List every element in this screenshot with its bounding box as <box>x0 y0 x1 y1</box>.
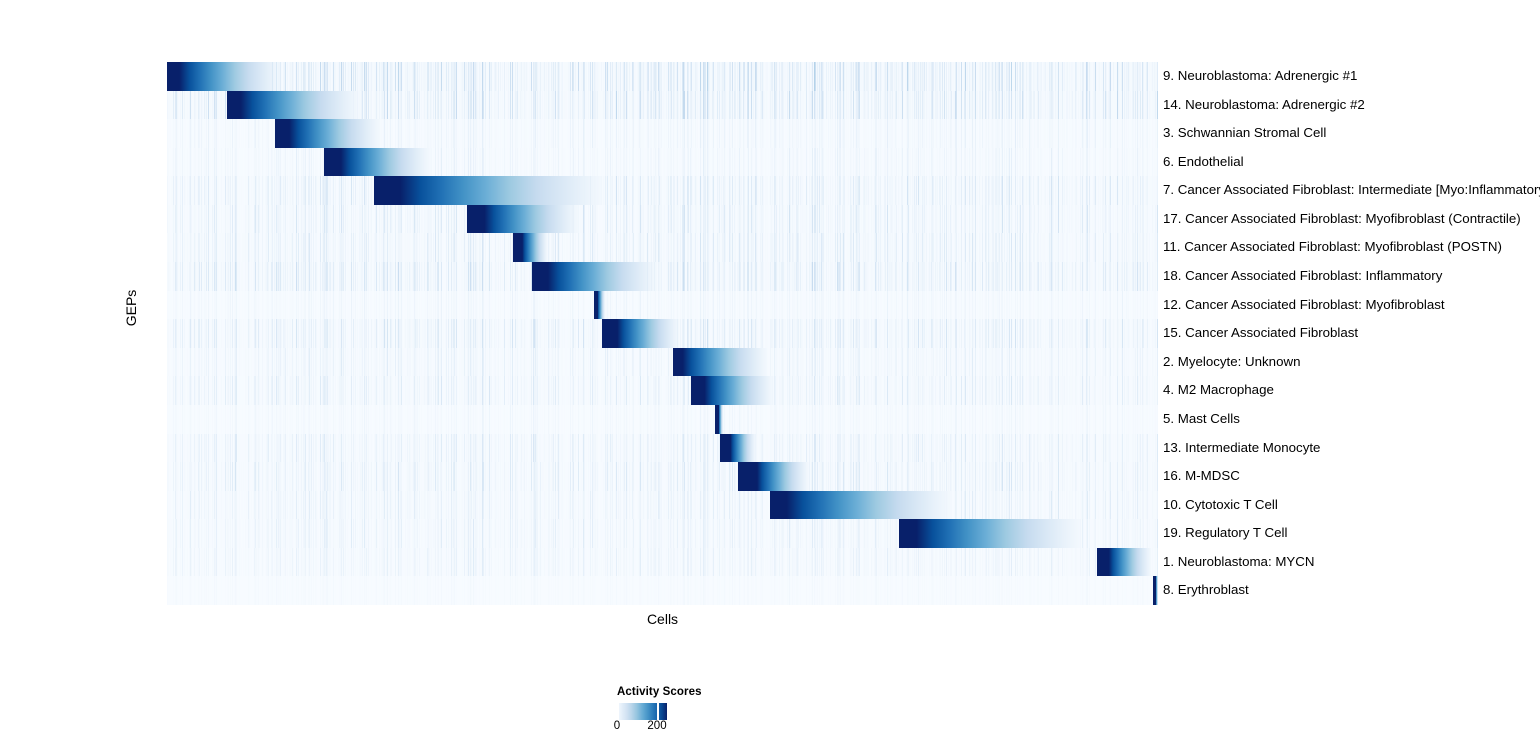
heatmap-row <box>167 348 1158 377</box>
heatmap-row <box>167 376 1158 405</box>
heatmap-row-cells <box>167 462 1158 491</box>
heatmap-row-cells <box>167 548 1158 577</box>
row-label: 1. Neuroblastoma: MYCN <box>1163 548 1315 577</box>
row-label: 11. Cancer Associated Fibroblast: Myofib… <box>1163 233 1502 262</box>
heatmap-row <box>167 119 1158 148</box>
colorbar-tick-label: 200 <box>647 720 666 732</box>
row-label: 3. Schwannian Stromal Cell <box>1163 119 1326 148</box>
colorbar-legend: Activity Scores 0200 <box>560 686 790 734</box>
row-label: 15. Cancer Associated Fibroblast <box>1163 319 1358 348</box>
row-label: 17. Cancer Associated Fibroblast: Myofib… <box>1163 205 1521 234</box>
row-label: 12. Cancer Associated Fibroblast: Myofib… <box>1163 291 1445 320</box>
heatmap-row <box>167 491 1158 520</box>
heatmap-row-cells <box>167 376 1158 405</box>
heatmap-row <box>167 548 1158 577</box>
row-label: 7. Cancer Associated Fibroblast: Interme… <box>1163 176 1540 205</box>
heatmap-row-cells <box>167 91 1158 120</box>
heatmap-row <box>167 148 1158 177</box>
y-axis-title: GEPs <box>123 290 139 327</box>
heatmap-row-cells <box>167 434 1158 463</box>
heatmap-row <box>167 91 1158 120</box>
colorbar-gradient <box>617 703 667 720</box>
row-label: 10. Cytotoxic T Cell <box>1163 491 1278 520</box>
heatmap-row <box>167 576 1158 605</box>
heatmap-row-cells <box>167 405 1158 434</box>
heatmap-row-cells <box>167 491 1158 520</box>
heatmap-row-cells <box>167 233 1158 262</box>
row-label: 4. M2 Macrophage <box>1163 376 1274 405</box>
heatmap-row <box>167 462 1158 491</box>
heatmap-row <box>167 319 1158 348</box>
heatmap-row-cells <box>167 319 1158 348</box>
heatmap-row <box>167 205 1158 234</box>
row-label: 6. Endothelial <box>1163 148 1244 177</box>
heatmap-row-cells <box>167 262 1158 291</box>
row-label: 13. Intermediate Monocyte <box>1163 434 1320 463</box>
row-label: 14. Neuroblastoma: Adrenergic #2 <box>1163 91 1365 120</box>
heatmap-figure: GEPs Cells 9. Neuroblastoma: Adrenergic … <box>0 0 1540 743</box>
colorbar <box>617 703 667 720</box>
heatmap-row-cells <box>167 148 1158 177</box>
row-label-list: 9. Neuroblastoma: Adrenergic #114. Neuro… <box>1163 62 1540 605</box>
row-label: 19. Regulatory T Cell <box>1163 519 1287 548</box>
legend-title: Activity Scores <box>617 686 790 698</box>
heatmap-row-cells <box>167 119 1158 148</box>
heatmap-row-cells <box>167 62 1158 91</box>
heatmap-row <box>167 262 1158 291</box>
x-axis-title: Cells <box>167 611 1158 627</box>
heatmap-grid <box>167 62 1158 605</box>
heatmap-row-cells <box>167 576 1158 605</box>
row-label: 16. M-MDSC <box>1163 462 1240 491</box>
heatmap-row-cells <box>167 176 1158 205</box>
colorbar-tick-labels: 0200 <box>617 720 667 734</box>
heatmap-row <box>167 62 1158 91</box>
heatmap-row-cells <box>167 205 1158 234</box>
heatmap-row-cells <box>167 291 1158 320</box>
heatmap-row <box>167 291 1158 320</box>
row-label: 8. Erythroblast <box>1163 576 1249 605</box>
row-label: 18. Cancer Associated Fibroblast: Inflam… <box>1163 262 1442 291</box>
heatmap-row <box>167 233 1158 262</box>
heatmap-row <box>167 519 1158 548</box>
colorbar-tick-label: 0 <box>614 720 620 732</box>
colorbar-tick <box>657 703 659 720</box>
heatmap-row-cells <box>167 519 1158 548</box>
heatmap-row-cells <box>167 348 1158 377</box>
heatmap-row <box>167 405 1158 434</box>
row-label: 2. Myelocyte: Unknown <box>1163 348 1300 377</box>
row-label: 5. Mast Cells <box>1163 405 1240 434</box>
heatmap-row <box>167 434 1158 463</box>
heatmap-row <box>167 176 1158 205</box>
colorbar-tick <box>617 703 619 720</box>
row-label: 9. Neuroblastoma: Adrenergic #1 <box>1163 62 1357 91</box>
